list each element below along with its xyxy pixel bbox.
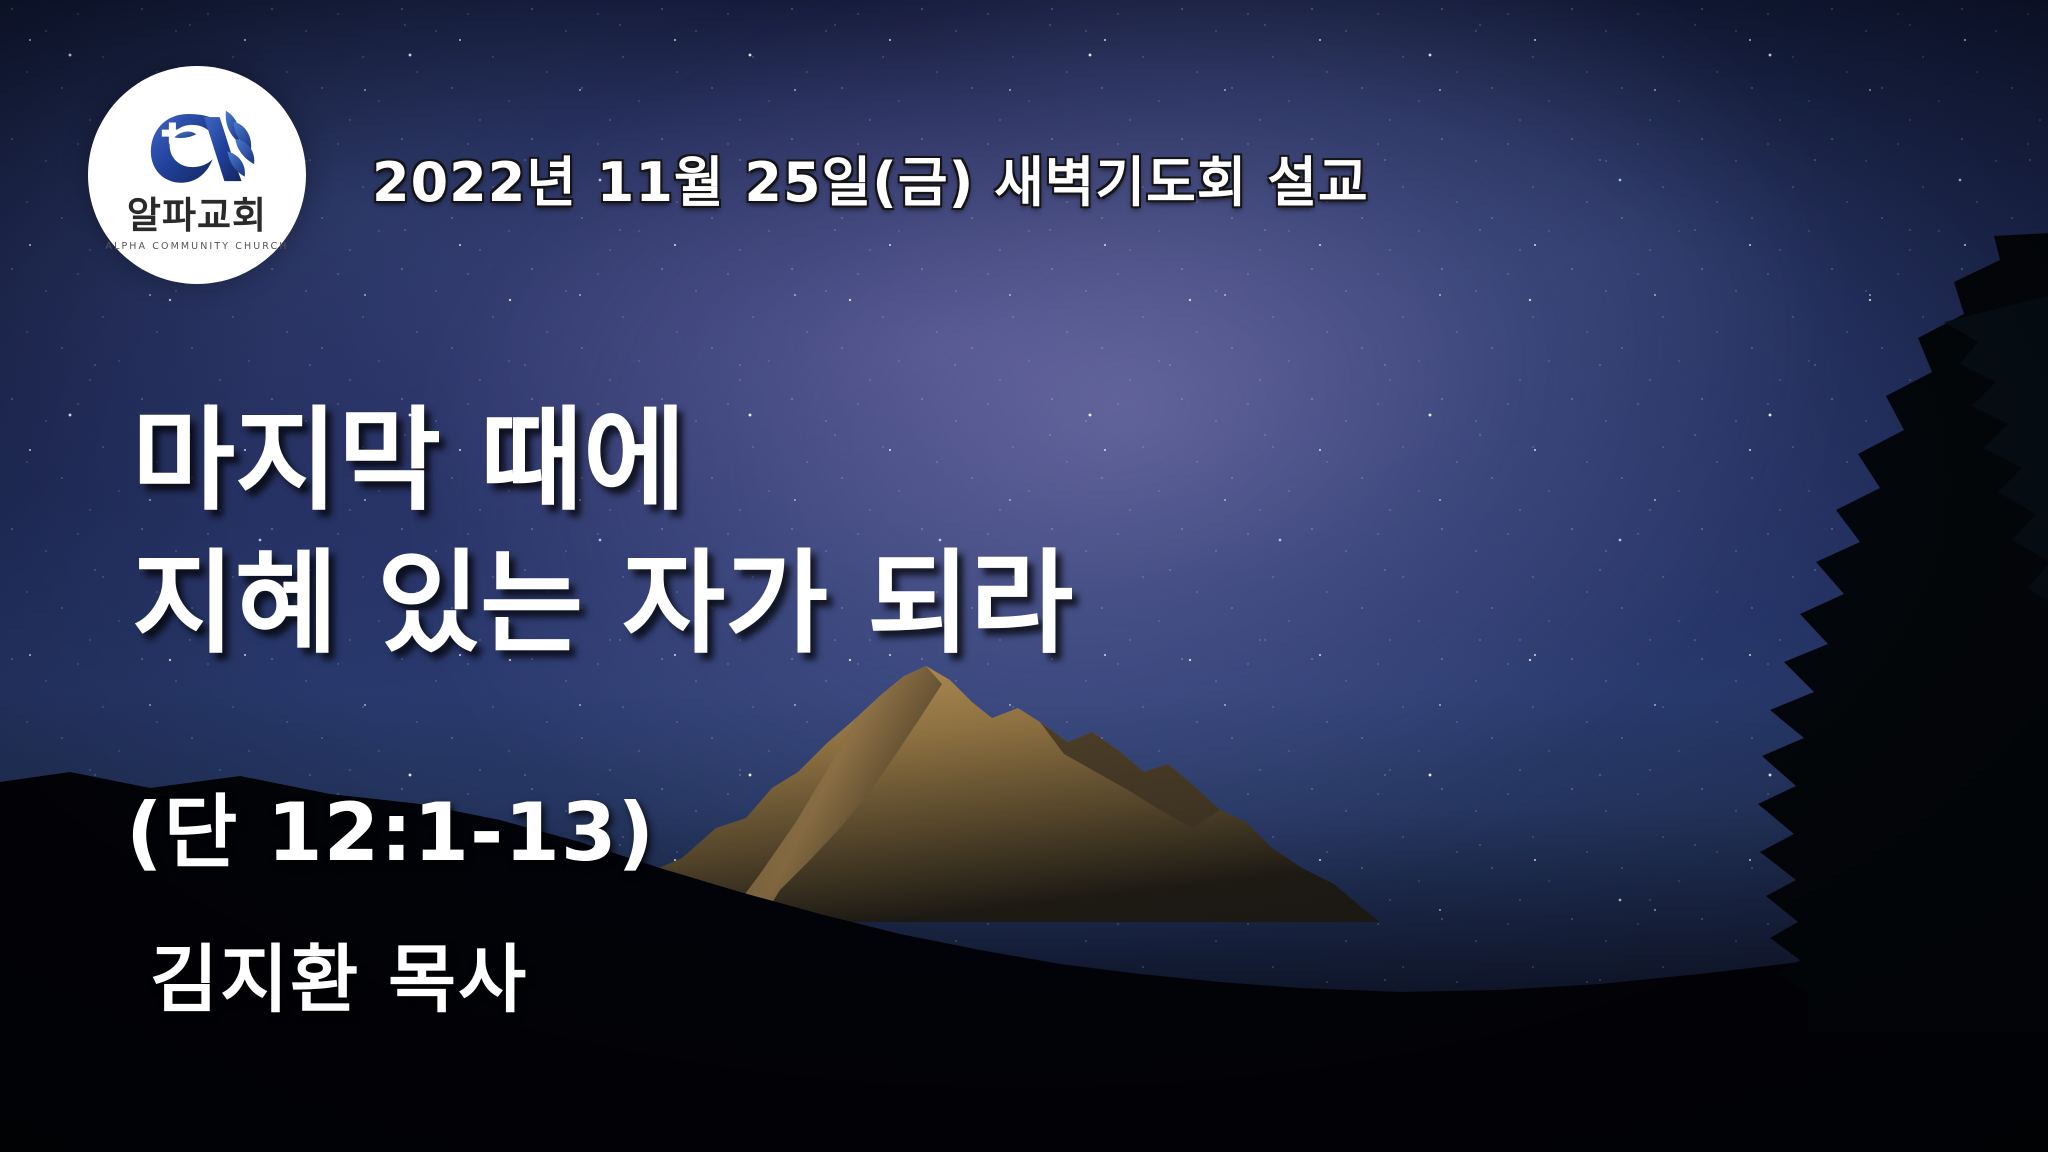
pine-tree-silhouette xyxy=(1508,232,2048,1032)
scripture-reference: (단 12:1-13) xyxy=(126,768,655,884)
logo-english-name: ALPHA COMMUNITY CHURCH xyxy=(105,241,288,252)
church-logo: 알파교회 ALPHA COMMUNITY CHURCH xyxy=(88,66,306,284)
logo-korean-name: 알파교회 xyxy=(127,197,267,234)
sermon-title-line-1: 마지막 때에 xyxy=(132,390,1382,533)
preacher-name: 김지환 목사 xyxy=(150,920,528,1027)
sermon-title: 마지막 때에 지혜 있는 자가 되라 xyxy=(132,390,1382,677)
alpha-leaf-icon xyxy=(138,103,256,189)
service-header-text: 2022년 11월 25일(금) 새벽기도회 설교 xyxy=(372,138,1369,217)
sermon-title-slide: 알파교회 ALPHA COMMUNITY CHURCH 2022년 11월 25… xyxy=(0,0,2048,1152)
sermon-title-line-2: 지혜 있는 자가 되라 xyxy=(132,533,1382,676)
